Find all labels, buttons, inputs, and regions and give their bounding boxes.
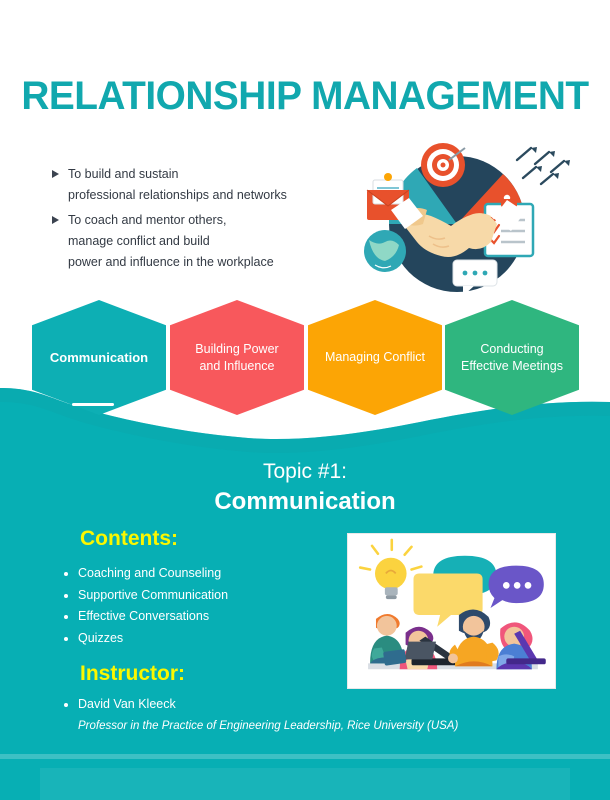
topic-hexagon-nav: Communication Building Powerand Influenc… [0, 300, 610, 415]
list-item: Supportive Communication [64, 587, 228, 604]
intro-bullet-list: To build and sustain professional relati… [52, 164, 352, 277]
slide-root: RELATIONSHIP MANAGEMENT To build and sus… [0, 0, 610, 800]
hexagon-tab-building-power-and-influence[interactable]: Building Powerand Influence [170, 300, 304, 415]
instructor-name: David Van Kleeck [78, 696, 176, 713]
list-item: Coaching and Counseling [64, 565, 228, 582]
handshake-illustration [345, 132, 590, 297]
bottom-accent-band [40, 768, 570, 800]
hexagon-label: ConductingEffective Meetings [451, 341, 573, 375]
bottom-divider-band [0, 754, 610, 759]
hexagon-label: Building Powerand Influence [185, 341, 288, 375]
intro-bullet-item: To coach and mentor others, manage confl… [52, 210, 352, 273]
hexagon-label: Managing Conflict [315, 349, 435, 366]
topic-number: Topic #1: [0, 458, 610, 486]
list-item: Quizzes [64, 630, 228, 647]
instructor-block: David Van Kleeck Professor in the Practi… [64, 696, 458, 735]
list-item-label: Quizzes [78, 630, 123, 647]
list-item-label: Supportive Communication [78, 587, 228, 604]
active-tab-underline [72, 403, 114, 406]
topic-heading: Topic #1: Communication [0, 458, 610, 518]
hexagon-label: Communication [40, 349, 158, 366]
instructor-heading: Instructor: [80, 662, 185, 686]
triangle-bullet-icon [52, 170, 59, 178]
instructor-subtitle: Professor in the Practice of Engineering… [78, 718, 458, 735]
hexagon-tab-conducting-effective-meetings[interactable]: ConductingEffective Meetings [445, 300, 579, 415]
topic-name: Communication [0, 486, 610, 518]
team-discussion-illustration [347, 533, 556, 689]
intro-bullet-text: To coach and mentor others, manage confl… [68, 210, 274, 273]
bullet-dot-icon [64, 637, 68, 641]
list-item-label: Effective Conversations [78, 608, 209, 625]
triangle-bullet-icon [52, 216, 59, 224]
contents-list: Coaching and Counseling Supportive Commu… [64, 565, 228, 651]
bullet-dot-icon [64, 594, 68, 598]
page-title: RELATIONSHIP MANAGEMENT [9, 74, 601, 119]
list-item-label: Coaching and Counseling [78, 565, 221, 582]
hexagon-tab-managing-conflict[interactable]: Managing Conflict [308, 300, 442, 415]
bullet-dot-icon [64, 703, 68, 707]
contents-heading: Contents: [80, 527, 178, 551]
list-item: Effective Conversations [64, 608, 228, 625]
hexagon-tab-communication[interactable]: Communication [32, 300, 166, 415]
bullet-dot-icon [64, 615, 68, 619]
bullet-dot-icon [64, 572, 68, 576]
intro-bullet-item: To build and sustain professional relati… [52, 164, 352, 206]
instructor-name-row: David Van Kleeck [64, 696, 458, 713]
intro-bullet-text: To build and sustain professional relati… [68, 164, 287, 206]
